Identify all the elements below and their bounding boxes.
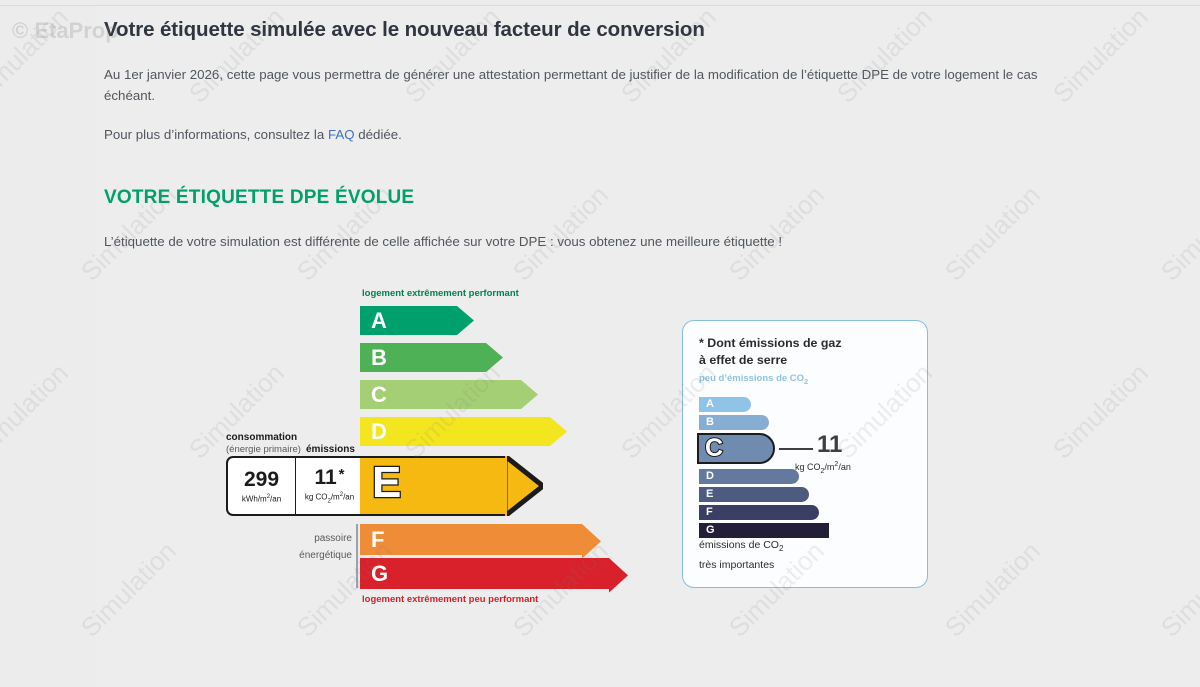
energy-bar-d: D [360,417,550,446]
passoire-line-2: énergétique [262,547,352,564]
energy-bar-f: F [360,524,582,555]
ges-bar-b: B [699,415,769,430]
ges-value-unit: kg CO2/m2/an [795,461,851,475]
ges-bar-d-letter: D [706,471,714,482]
energy-bar-g-letter: G [371,563,388,585]
energy-bar-row-d: D [360,417,550,446]
passoire-bracket [356,524,358,588]
passoire-line-1: passoire [262,530,352,547]
dpe-diagram: logement extrêmement performant A B C [0,288,1200,618]
energy-bar-c-letter: C [371,384,387,406]
energy-top-caption: logement extrêmement performant [362,288,519,299]
energy-bar-d-body [360,417,550,446]
energy-bar-e-letter: E [372,461,401,505]
ges-bar-g: G [699,523,829,538]
ges-bottom-caption-line-1: émissions de CO2 [699,539,783,553]
energy-bar-g-arrow [609,558,628,593]
ges-bar-e: E [699,487,809,502]
energy-bar-b-arrow [486,343,503,372]
watermark-text: Simulation [0,2,75,110]
energy-value-box: 299 kWh/m2/an 11* kg CO2/m2/an [226,456,363,516]
emission-unit: kg CO2/m2/an [305,492,354,504]
ges-bar-a-letter: A [706,399,714,410]
ges-title-line-1: * Dont émissions de gaz [699,335,909,352]
faq-paragraph: Pour plus d’informations, consultez la F… [104,124,1089,145]
energy-current-row: 299 kWh/m2/an 11* kg CO2/m2/an E [226,456,626,516]
faq-paragraph-prefix: Pour plus d’informations, consultez la [104,127,328,142]
label-consommation: consommation [226,432,324,443]
consumption-value-cell: 299 kWh/m2/an [228,458,296,514]
energy-bar-e: E [360,456,506,516]
energy-bar-g: G [360,558,609,589]
ges-bar-c-current: C [697,433,775,464]
ges-value: 11 [817,433,842,457]
emission-value: 11* [314,467,344,488]
intro-text-block: Votre étiquette simulée avec le nouveau … [104,18,1094,252]
consumption-value: 299 [244,469,279,490]
intro-paragraph: Au 1er janvier 2026, cette page vous per… [104,64,1089,106]
energy-bar-row-a: A [360,306,457,335]
ges-bar-f: F [699,505,819,520]
emission-value-cell: 11* kg CO2/m2/an [296,458,363,514]
top-divider [0,5,1200,6]
ges-bar-d: D [699,469,799,484]
energy-consumption-label: logement extrêmement performant A B C [226,288,626,608]
ges-bar-f-letter: F [706,507,713,518]
label-emissions: émissions [306,444,366,455]
passoire-energetique-label: passoire énergétique [262,530,352,564]
section-title: VOTRE ÉTIQUETTE DPE ÉVOLUE [104,187,1094,209]
consumption-unit: kWh/m2/an [242,494,281,504]
energy-bottom-caption: logement extrêmement peu performant [362,594,538,605]
energy-bar-row-f: F [360,524,582,555]
ges-bar-c-letter: C [705,436,723,461]
page-title: Votre étiquette simulée avec le nouveau … [104,18,1094,42]
faq-paragraph-suffix: dédiée. [355,127,402,142]
ges-top-caption: peu d’émissions de CO2 [699,373,808,386]
energy-bar-d-arrow [550,417,567,446]
ges-bottom-caption-line-2: très importantes [699,559,774,571]
energy-bar-f-letter: F [371,529,384,551]
energy-bar-a-letter: A [371,310,387,332]
energy-bar-b-letter: B [371,347,387,369]
energy-bar-a: A [360,306,457,335]
energy-bar-c-arrow [521,380,538,409]
energy-bar-c: C [360,380,521,409]
energy-bar-e-arrow [505,456,543,516]
ges-bar-e-letter: E [706,489,713,500]
ges-title-line-2: à effet de serre [699,352,909,369]
ges-bar-b-letter: B [706,417,714,428]
energy-bar-g-body [360,558,609,589]
energy-bar-row-c: C [360,380,521,409]
energy-bar-row-b: B [360,343,486,372]
ges-bar-g-letter: G [706,525,715,536]
ges-title: * Dont émissions de gaz à effet de serre [699,335,909,369]
energy-bar-b: B [360,343,486,372]
energy-bar-f-body [360,524,582,555]
energy-bar-a-arrow [457,306,474,335]
ges-bar-a: A [699,397,751,412]
section-paragraph: L’étiquette de votre simulation est diff… [104,231,1089,252]
energy-bar-d-letter: D [371,421,387,443]
faq-link[interactable]: FAQ [328,127,355,142]
ges-panel: * Dont émissions de gaz à effet de serre… [682,320,928,588]
energy-bar-f-arrow [582,524,601,559]
energy-bar-row-g: G [360,558,609,589]
ges-leader-line [779,448,813,450]
